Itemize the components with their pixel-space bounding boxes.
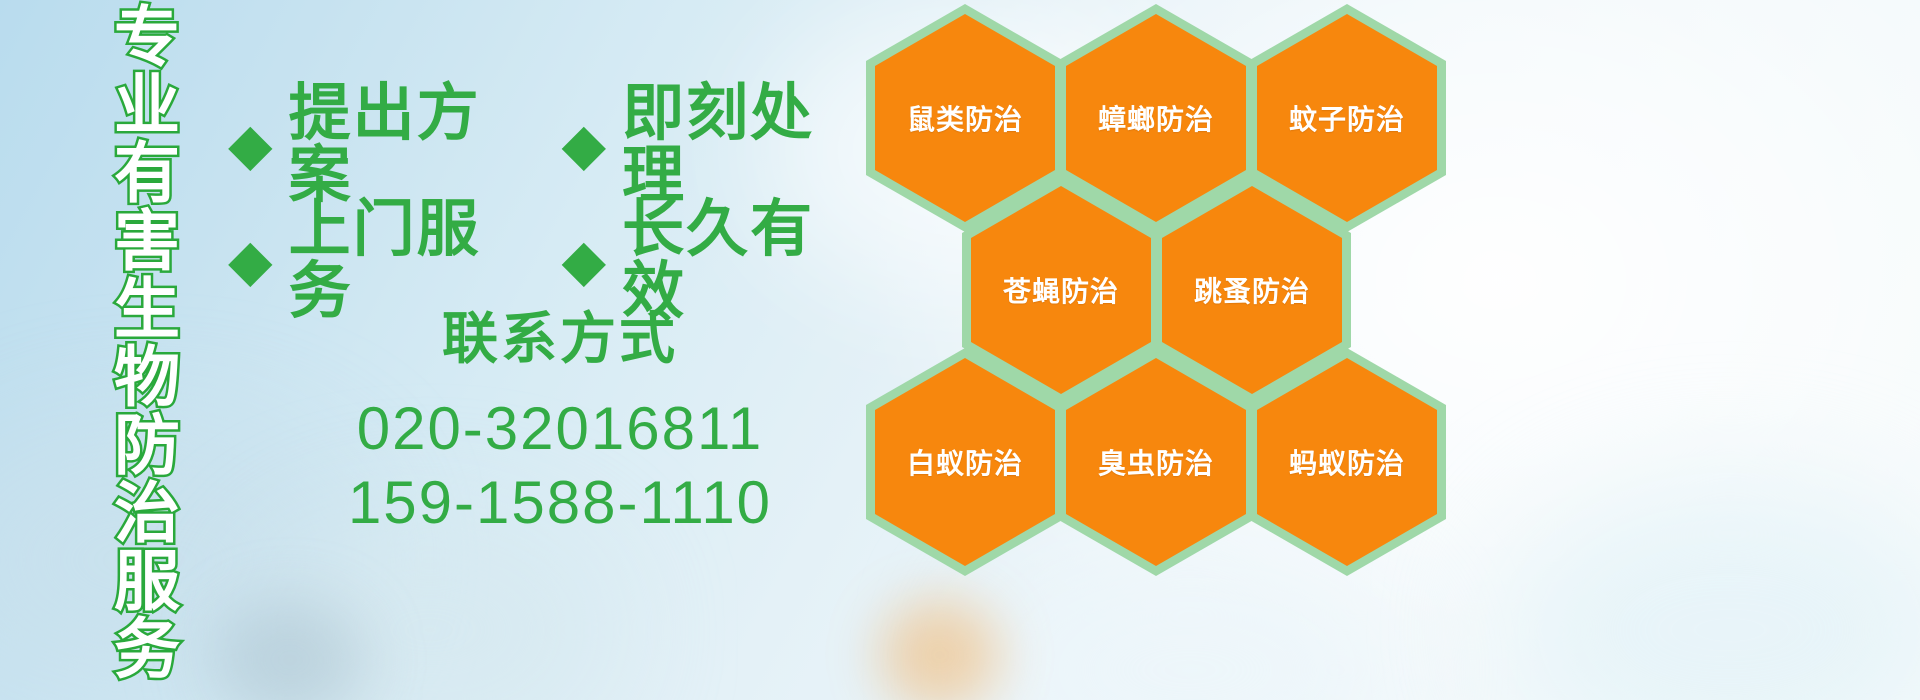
vertical-slogan-char: 业 xyxy=(114,74,180,142)
feature-list: ◆ 提出方案 ◆ 即刻处理 ◆ 上门服务 ◆ 长久有效 xyxy=(228,86,868,318)
vertical-slogan-char: 务 xyxy=(114,618,180,686)
hex-inner-fill: 白蚁防治 xyxy=(875,358,1055,566)
vertical-slogan-char: 害 xyxy=(114,210,180,278)
hex-inner-fill: 蚊子防治 xyxy=(1257,14,1437,222)
feature-item-immediate-handling: ◆ 即刻处理 xyxy=(562,82,868,206)
phone-mobile[interactable]: 159-1588-1110 xyxy=(310,466,810,540)
feature-item-long-lasting: ◆ 长久有效 xyxy=(562,198,868,322)
hex-inner-fill: 跳蚤防治 xyxy=(1162,186,1342,394)
background-blob xyxy=(250,520,610,700)
hex-inner-fill: 鼠类防治 xyxy=(875,14,1055,222)
diamond-bullet-icon: ◆ xyxy=(562,231,607,289)
feature-row: ◆ 上门服务 ◆ 长久有效 xyxy=(228,202,868,318)
background-blob xyxy=(880,600,1000,700)
vertical-slogan-char: 服 xyxy=(114,550,180,618)
feature-item-propose-plan: ◆ 提出方案 xyxy=(228,82,534,206)
feature-label: 上门服务 xyxy=(289,198,535,322)
vertical-slogan-char: 专 xyxy=(114,6,180,74)
service-label: 鼠类防治 xyxy=(907,98,1023,138)
hex-inner-fill: 蟑螂防治 xyxy=(1066,14,1246,222)
hex-inner-fill: 苍蝇防治 xyxy=(971,186,1151,394)
service-label: 跳蚤防治 xyxy=(1194,270,1310,310)
contact-block: 联系方式 020-32016811 159-1588-1110 xyxy=(310,312,810,541)
background-blob xyxy=(215,600,365,700)
pest-control-banner: 专 业 有 害 生 物 防 治 服 务 ◆ 提出方案 ◆ 即刻处理 ◆ 上门服务 xyxy=(0,0,1920,700)
phone-landline[interactable]: 020-32016811 xyxy=(310,392,810,466)
feature-label: 提出方案 xyxy=(289,82,535,206)
feature-label: 长久有效 xyxy=(622,198,868,322)
service-label: 蟑螂防治 xyxy=(1098,98,1214,138)
vertical-slogan-char: 物 xyxy=(114,346,180,414)
service-label: 臭虫防治 xyxy=(1098,442,1214,482)
service-label: 蚂蚁防治 xyxy=(1289,442,1405,482)
contact-title: 联系方式 xyxy=(310,312,810,368)
diamond-bullet-icon: ◆ xyxy=(562,115,607,173)
service-label: 白蚁防治 xyxy=(907,442,1023,482)
feature-row: ◆ 提出方案 ◆ 即刻处理 xyxy=(228,86,868,202)
vertical-slogan-char: 有 xyxy=(114,142,180,210)
diamond-bullet-icon: ◆ xyxy=(228,115,273,173)
vertical-slogan-char: 防 xyxy=(114,414,180,482)
feature-item-onsite-service: ◆ 上门服务 xyxy=(228,198,534,322)
background-blob xyxy=(980,560,1400,700)
hex-inner-fill: 臭虫防治 xyxy=(1066,358,1246,566)
hex-inner-fill: 蚂蚁防治 xyxy=(1257,358,1437,566)
feature-label: 即刻处理 xyxy=(622,82,868,206)
service-label: 苍蝇防治 xyxy=(1003,270,1119,310)
vertical-slogan: 专 业 有 害 生 物 防 治 服 务 xyxy=(104,6,190,686)
service-label: 蚊子防治 xyxy=(1289,98,1405,138)
service-honeycomb: 鼠类防治 蟑螂防治 蚊子防治 苍蝇防治 跳蚤防治 白蚁防治 xyxy=(862,0,1462,554)
vertical-slogan-char: 生 xyxy=(114,278,180,346)
diamond-bullet-icon: ◆ xyxy=(228,231,273,289)
background-blob xyxy=(1500,480,1920,700)
vertical-slogan-char: 治 xyxy=(114,482,180,550)
